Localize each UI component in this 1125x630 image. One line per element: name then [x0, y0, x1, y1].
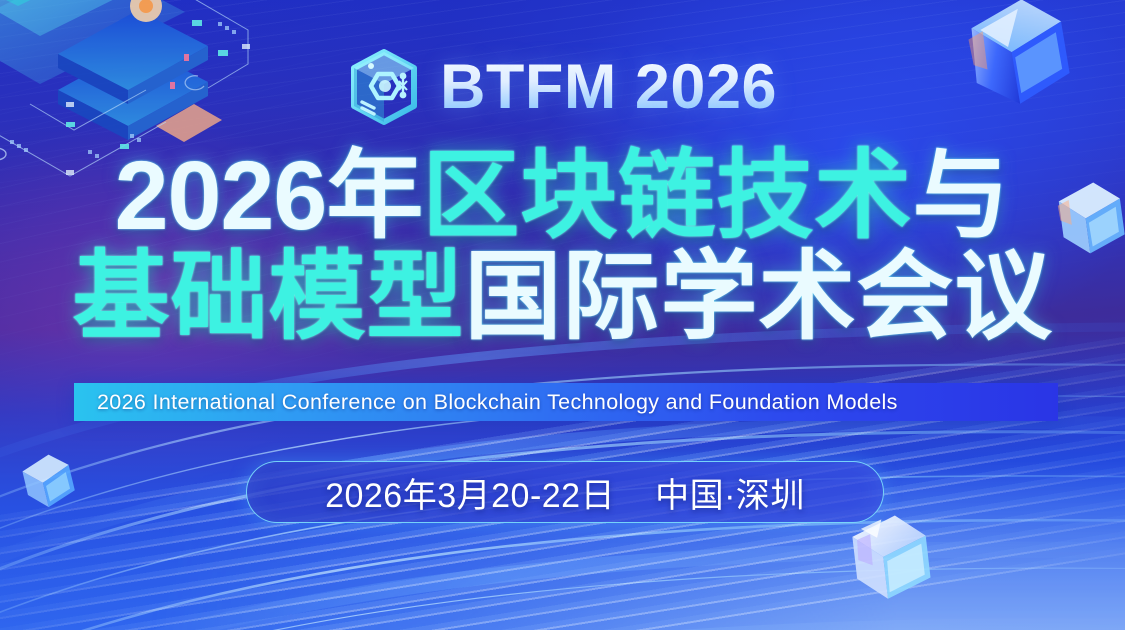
english-subtitle-text: 2026 International Conference on Blockch… — [97, 390, 898, 415]
logo-row: BTFM 2026 — [0, 48, 1125, 126]
title-line-2: 基础模型国际学术会议 — [0, 247, 1125, 348]
conference-location: 中国·深圳 — [655, 468, 805, 517]
main-title: 2026年区块链技术与 基础模型国际学术会议 — [0, 146, 1125, 348]
conference-banner: BTFM 2026 2026年区块链技术与 基础模型国际学术会议 2026 In… — [0, 0, 1125, 630]
conference-date: 2026年3月20-22日 — [325, 468, 615, 517]
logo-text: BTFM 2026 — [440, 56, 777, 119]
blockchain-cube-icon — [348, 48, 420, 126]
title-foundation-models: 基础模型 — [73, 242, 465, 351]
crystal-cube-bottom-left — [12, 440, 84, 518]
title-year: 2026年 — [115, 141, 423, 250]
title-blockchain-tech: 区块链技术 — [422, 141, 912, 250]
title-conjunction: 与 — [912, 141, 1010, 250]
english-subtitle-bar: 2026 International Conference on Blockch… — [74, 383, 1058, 421]
title-international-conference: 国际学术会议 — [465, 242, 1053, 351]
title-line-1: 2026年区块链技术与 — [0, 146, 1125, 247]
date-location-pill: 2026年3月20-22日 中国·深圳 — [246, 461, 884, 523]
